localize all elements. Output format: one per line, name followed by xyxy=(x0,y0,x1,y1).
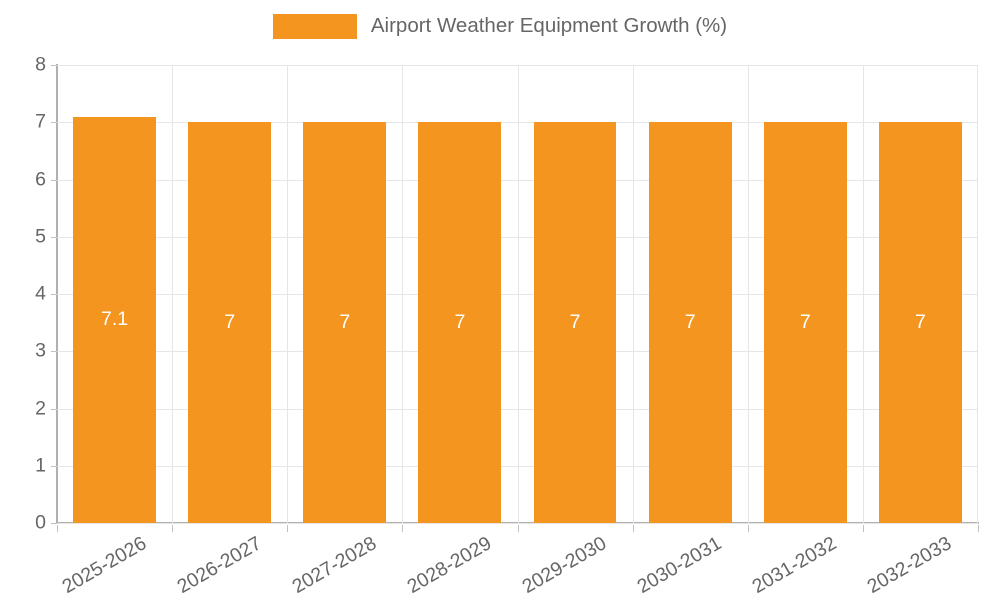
gridline-vertical xyxy=(863,65,864,523)
y-axis-labels: 876543210 xyxy=(0,0,46,600)
x-axis-tick-mark xyxy=(978,525,979,532)
y-axis-tick-mark xyxy=(51,237,57,238)
y-axis-tick-label: 0 xyxy=(35,513,46,533)
bar-value-label: 7 xyxy=(879,313,962,333)
bar-value-label: 7 xyxy=(764,313,847,333)
y-axis-tick-label: 4 xyxy=(35,284,46,304)
bar-chart: Airport Weather Equipment Growth (%) 876… xyxy=(0,0,1000,600)
y-axis-tick-label: 3 xyxy=(35,342,46,362)
x-axis-tick-label: 2032-2033 xyxy=(865,534,956,598)
x-axis-tick-mark xyxy=(287,525,288,532)
gridline-horizontal xyxy=(57,523,978,524)
y-axis-tick-mark xyxy=(51,294,57,295)
gridline-vertical xyxy=(172,65,173,523)
y-axis-tick-label: 5 xyxy=(35,227,46,247)
x-axis-tick-mark xyxy=(402,525,403,532)
x-axis-tick-label: 2030-2031 xyxy=(635,534,726,598)
gridline-vertical xyxy=(518,65,519,523)
bar-value-label: 7 xyxy=(418,313,501,333)
bar-value-label: 7 xyxy=(534,313,617,333)
y-axis-tick-label: 1 xyxy=(35,456,46,476)
y-axis-tick-label: 7 xyxy=(35,113,46,133)
x-axis-tick-mark xyxy=(748,525,749,532)
y-axis-tick-label: 6 xyxy=(35,170,46,190)
y-axis-tick-mark xyxy=(51,65,57,66)
y-axis-tick-mark xyxy=(51,122,57,123)
y-axis-tick-label: 2 xyxy=(35,399,46,419)
gridline-vertical xyxy=(402,65,403,523)
legend-swatch-airport-weather-equipment-growth[interactable] xyxy=(273,14,357,39)
bar-value-label: 7 xyxy=(188,313,271,333)
bar-value-label: 7 xyxy=(303,313,386,333)
x-axis-tick-mark xyxy=(172,525,173,532)
y-axis-tick-mark xyxy=(51,351,57,352)
x-axis-tick-mark xyxy=(863,525,864,532)
bar-value-label: 7.1 xyxy=(73,310,156,330)
y-axis-tick-mark xyxy=(51,409,57,410)
chart-legend: Airport Weather Equipment Growth (%) xyxy=(0,14,1000,39)
plot-area: 7.17777777 xyxy=(57,65,978,523)
bar-value-label: 7 xyxy=(649,313,732,333)
x-axis-tick-label: 2031-2032 xyxy=(750,534,841,598)
legend-label-airport-weather-equipment-growth[interactable]: Airport Weather Equipment Growth (%) xyxy=(371,16,727,37)
x-axis-tick-label: 2026-2027 xyxy=(174,534,265,598)
x-axis-tick-mark xyxy=(57,525,58,532)
gridline-vertical xyxy=(287,65,288,523)
y-axis-tick-mark xyxy=(51,466,57,467)
x-axis-tick-label: 2028-2029 xyxy=(404,534,495,598)
gridline-vertical xyxy=(748,65,749,523)
x-axis-tick-label: 2027-2028 xyxy=(289,534,380,598)
y-axis-tick-label: 8 xyxy=(35,55,46,75)
y-axis-tick-mark xyxy=(51,523,57,524)
y-axis-tick-mark xyxy=(51,180,57,181)
x-axis-tick-mark xyxy=(518,525,519,532)
gridline-vertical xyxy=(633,65,634,523)
x-axis-tick-label: 2029-2030 xyxy=(520,534,611,598)
x-axis-tick-mark xyxy=(633,525,634,532)
x-axis-tick-label: 2025-2026 xyxy=(59,534,150,598)
gridline-vertical xyxy=(977,65,978,523)
